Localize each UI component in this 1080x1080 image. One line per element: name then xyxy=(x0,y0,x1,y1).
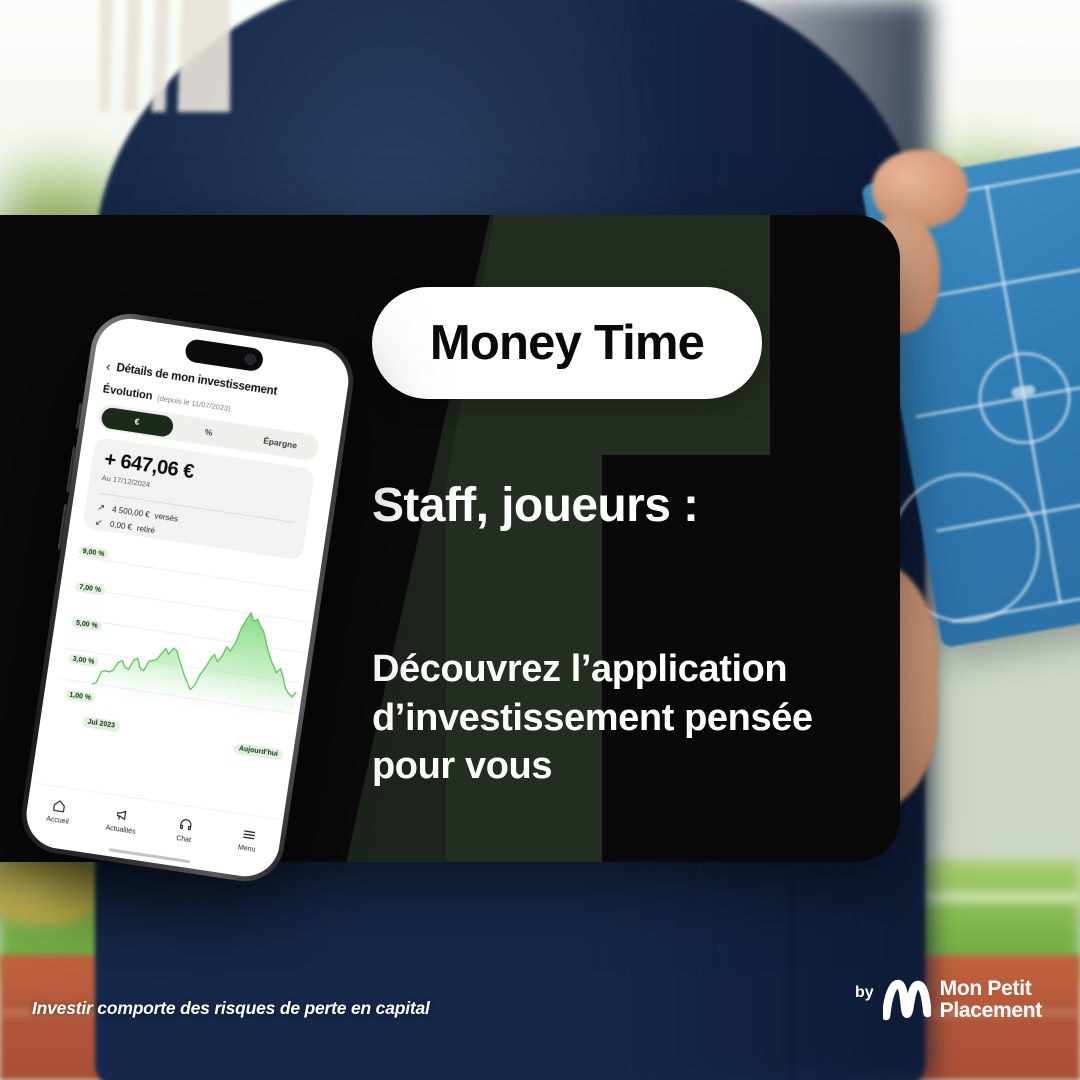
evolution-label: Évolution xyxy=(102,383,153,402)
subcopy-line-1: Découvrez l’application xyxy=(372,645,884,694)
tab-actualites[interactable]: Actualités xyxy=(92,803,151,838)
front-camera-icon xyxy=(244,353,257,366)
segment-percent[interactable]: % xyxy=(171,417,246,448)
segment-epargne[interactable]: Épargne xyxy=(243,427,318,458)
home-icon xyxy=(51,796,68,815)
arrow-up-right-icon: ↗ xyxy=(97,502,109,514)
yellow-equipment-left xyxy=(0,855,100,925)
deposited-value: 4 500,00 € xyxy=(112,505,151,519)
brand-name-line-2: Placement xyxy=(940,999,1042,1022)
tab-accueil[interactable]: Accueil xyxy=(29,793,88,828)
money-time-badge: Money Time xyxy=(372,287,762,399)
tab-chat[interactable]: Chat xyxy=(155,812,214,847)
segment-euro[interactable]: € xyxy=(100,406,175,437)
tab-menu-label: Menu xyxy=(237,844,255,854)
tab-actualites-label: Actualités xyxy=(105,824,136,835)
risk-disclaimer: Investir comporte des risques de perte e… xyxy=(32,998,430,1019)
badge-label: Money Time xyxy=(430,315,704,371)
subcopy-line-3: pour vous xyxy=(372,742,884,791)
arrow-down-left-icon: ↙ xyxy=(94,517,106,529)
withdrawn-label: retiré xyxy=(136,524,155,536)
evolution-since: (depuis le 11/07/2023) xyxy=(157,393,232,413)
headset-icon xyxy=(177,815,194,834)
tab-chat-label: Chat xyxy=(176,835,192,844)
brand-name: Mon Petit Placement xyxy=(940,978,1042,1023)
by-label: by xyxy=(855,984,874,1002)
home-indicator xyxy=(108,848,190,864)
brand-name-line-1: Mon Petit xyxy=(940,977,1032,1000)
withdrawn-value: 0,00 € xyxy=(109,520,132,532)
jersey-lettering xyxy=(100,0,230,112)
performance-chart: 9,00 % 7,00 % 5,00 % 3,00 % 1,00 % Jul 2… xyxy=(39,540,319,764)
jersey-seam xyxy=(790,880,793,1080)
brand-lockup: by Mon Petit Placement xyxy=(855,978,1042,1023)
chevron-left-icon[interactable]: ‹ xyxy=(105,360,111,373)
tab-accueil-label: Accueil xyxy=(46,816,69,826)
dynamic-island xyxy=(183,338,264,372)
subcopy-line-2: d’investissement pensée xyxy=(372,694,884,743)
megaphone-icon xyxy=(114,806,131,825)
headline: Staff, joueurs : xyxy=(372,479,892,533)
tab-menu[interactable]: Menu xyxy=(218,822,277,857)
subcopy: Découvrez l’application d’investissement… xyxy=(372,645,884,791)
deposited-label: versés xyxy=(154,511,179,523)
hamburger-menu-icon xyxy=(240,825,257,844)
mpp-m-logo-icon xyxy=(883,979,931,1021)
